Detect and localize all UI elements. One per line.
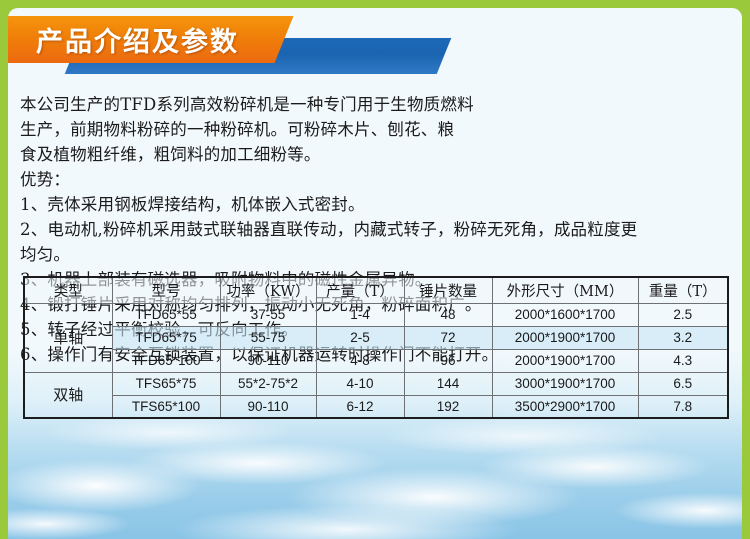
cell-weight: 3.2 bbox=[638, 326, 728, 349]
table-row: 单轴 TFD65*55 37-55 1-4 48 2000*1600*1700 … bbox=[24, 303, 728, 326]
cell-output: 4-10 bbox=[316, 372, 404, 395]
cell-power: 55*2-75*2 bbox=[220, 372, 316, 395]
cell-power: 90-110 bbox=[220, 395, 316, 418]
cell-dimensions: 2000*1600*1700 bbox=[492, 303, 638, 326]
cell-weight: 4.3 bbox=[638, 349, 728, 372]
column-header-type: 类型 bbox=[24, 277, 112, 303]
advantages-heading: 优势： bbox=[20, 167, 736, 192]
cell-hammers: 48 bbox=[404, 303, 492, 326]
cell-dimensions: 3000*1900*1700 bbox=[492, 372, 638, 395]
table-row: 双轴 TFS65*75 55*2-75*2 4-10 144 3000*1900… bbox=[24, 372, 728, 395]
column-header-power: 功率（KW） bbox=[220, 277, 316, 303]
cell-hammers: 192 bbox=[404, 395, 492, 418]
column-header-dimensions: 外形尺寸（MM） bbox=[492, 277, 638, 303]
type-group-label: 单轴 bbox=[24, 303, 112, 372]
column-header-output: 产量（T） bbox=[316, 277, 404, 303]
intro-line: 食及植物粗纤维，粗饲料的加工细粉等。 bbox=[20, 142, 736, 167]
cell-output: 2-5 bbox=[316, 326, 404, 349]
cell-power: 37-55 bbox=[220, 303, 316, 326]
cell-dimensions: 2000*1900*1700 bbox=[492, 326, 638, 349]
section-banner: 产品介绍及参数 bbox=[8, 8, 742, 80]
product-info-page: 产品介绍及参数 本公司生产的TFD系列高效粉碎机是一种专门用于生物质燃料 生产，… bbox=[0, 0, 750, 539]
cell-output: 4-8 bbox=[316, 349, 404, 372]
cell-hammers: 96 bbox=[404, 349, 492, 372]
column-header-model: 型号 bbox=[112, 277, 220, 303]
cell-hammers: 144 bbox=[404, 372, 492, 395]
cell-model: TFD65*55 bbox=[112, 303, 220, 326]
cell-power: 55-75 bbox=[220, 326, 316, 349]
cell-dimensions: 3500*2900*1700 bbox=[492, 395, 638, 418]
table-row: TFS65*100 90-110 6-12 192 3500*2900*1700… bbox=[24, 395, 728, 418]
intro-line: 本公司生产的TFD系列高效粉碎机是一种专门用于生物质燃料 bbox=[20, 92, 736, 117]
column-header-hammers: 锤片数量 bbox=[404, 277, 492, 303]
content-panel: 产品介绍及参数 本公司生产的TFD系列高效粉碎机是一种专门用于生物质燃料 生产，… bbox=[8, 8, 742, 539]
cell-model: TFS65*75 bbox=[112, 372, 220, 395]
cell-output: 1-4 bbox=[316, 303, 404, 326]
specification-table: 类型 型号 功率（KW） 产量（T） 锤片数量 外形尺寸（MM） 重量（T） 单… bbox=[23, 276, 729, 419]
cell-power: 90-110 bbox=[220, 349, 316, 372]
advantage-item: 1、壳体采用钢板焊接结构，机体嵌入式密封。 bbox=[20, 192, 736, 217]
intro-line: 生产，前期物料粉碎的一种粉碎机。可粉碎木片、刨花、粮 bbox=[20, 117, 736, 142]
cell-model: TFD65*75 bbox=[112, 326, 220, 349]
specification-table-wrapper: 类型 型号 功率（KW） 产量（T） 锤片数量 外形尺寸（MM） 重量（T） 单… bbox=[23, 276, 727, 419]
advantage-item: 均匀。 bbox=[20, 242, 736, 267]
cell-model: TFS65*100 bbox=[112, 395, 220, 418]
cell-weight: 2.5 bbox=[638, 303, 728, 326]
cell-weight: 7.8 bbox=[638, 395, 728, 418]
advantage-item: 2、电动机,粉碎机采用鼓式联轴器直联传动，内藏式转子，粉碎无死角，成品粒度更 bbox=[20, 217, 736, 242]
cell-output: 6-12 bbox=[316, 395, 404, 418]
column-header-weight: 重量（T） bbox=[638, 277, 728, 303]
cell-model: TFD65*100 bbox=[112, 349, 220, 372]
table-body: 单轴 TFD65*55 37-55 1-4 48 2000*1600*1700 … bbox=[24, 303, 728, 418]
table-header-row: 类型 型号 功率（KW） 产量（T） 锤片数量 外形尺寸（MM） 重量（T） bbox=[24, 277, 728, 303]
cell-hammers: 72 bbox=[404, 326, 492, 349]
table-row: TFD65*75 55-75 2-5 72 2000*1900*1700 3.2 bbox=[24, 326, 728, 349]
table-row: TFD65*100 90-110 4-8 96 2000*1900*1700 4… bbox=[24, 349, 728, 372]
cell-dimensions: 2000*1900*1700 bbox=[492, 349, 638, 372]
cell-weight: 6.5 bbox=[638, 372, 728, 395]
type-group-label: 双轴 bbox=[24, 372, 112, 418]
page-title: 产品介绍及参数 bbox=[36, 16, 276, 63]
